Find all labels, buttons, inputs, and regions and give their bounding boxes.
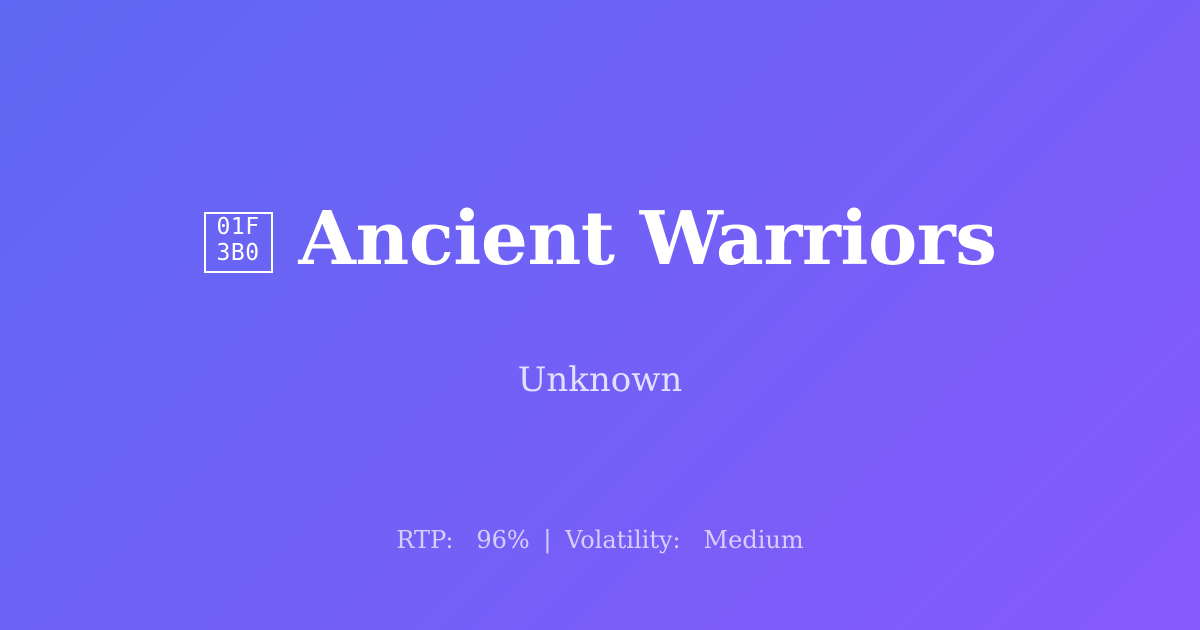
slot-machine-icon: 01F 3B0 — [204, 212, 273, 273]
tofu-codepoint-bottom: 3B0 — [217, 242, 260, 268]
volatility-value: Medium — [704, 526, 804, 554]
tofu-codepoint-top: 01F — [217, 216, 260, 242]
meta-separator: | — [537, 526, 557, 554]
page-title: Ancient Warriors — [299, 200, 997, 280]
rtp-value: 96% — [476, 526, 529, 554]
rtp-label: RTP: — [396, 526, 453, 554]
title-block: 01F 3B0 Ancient Warriors — [0, 0, 1200, 480]
game-meta-line: RTP: 96% | Volatility: Medium — [0, 526, 1200, 555]
og-share-card: 01F 3B0 Ancient Warriors Unknown RTP: 96… — [0, 0, 1200, 630]
volatility-label: Volatility: — [565, 526, 681, 554]
provider-name: Unknown — [0, 360, 1200, 401]
title-line: 01F 3B0 Ancient Warriors — [0, 200, 1200, 280]
